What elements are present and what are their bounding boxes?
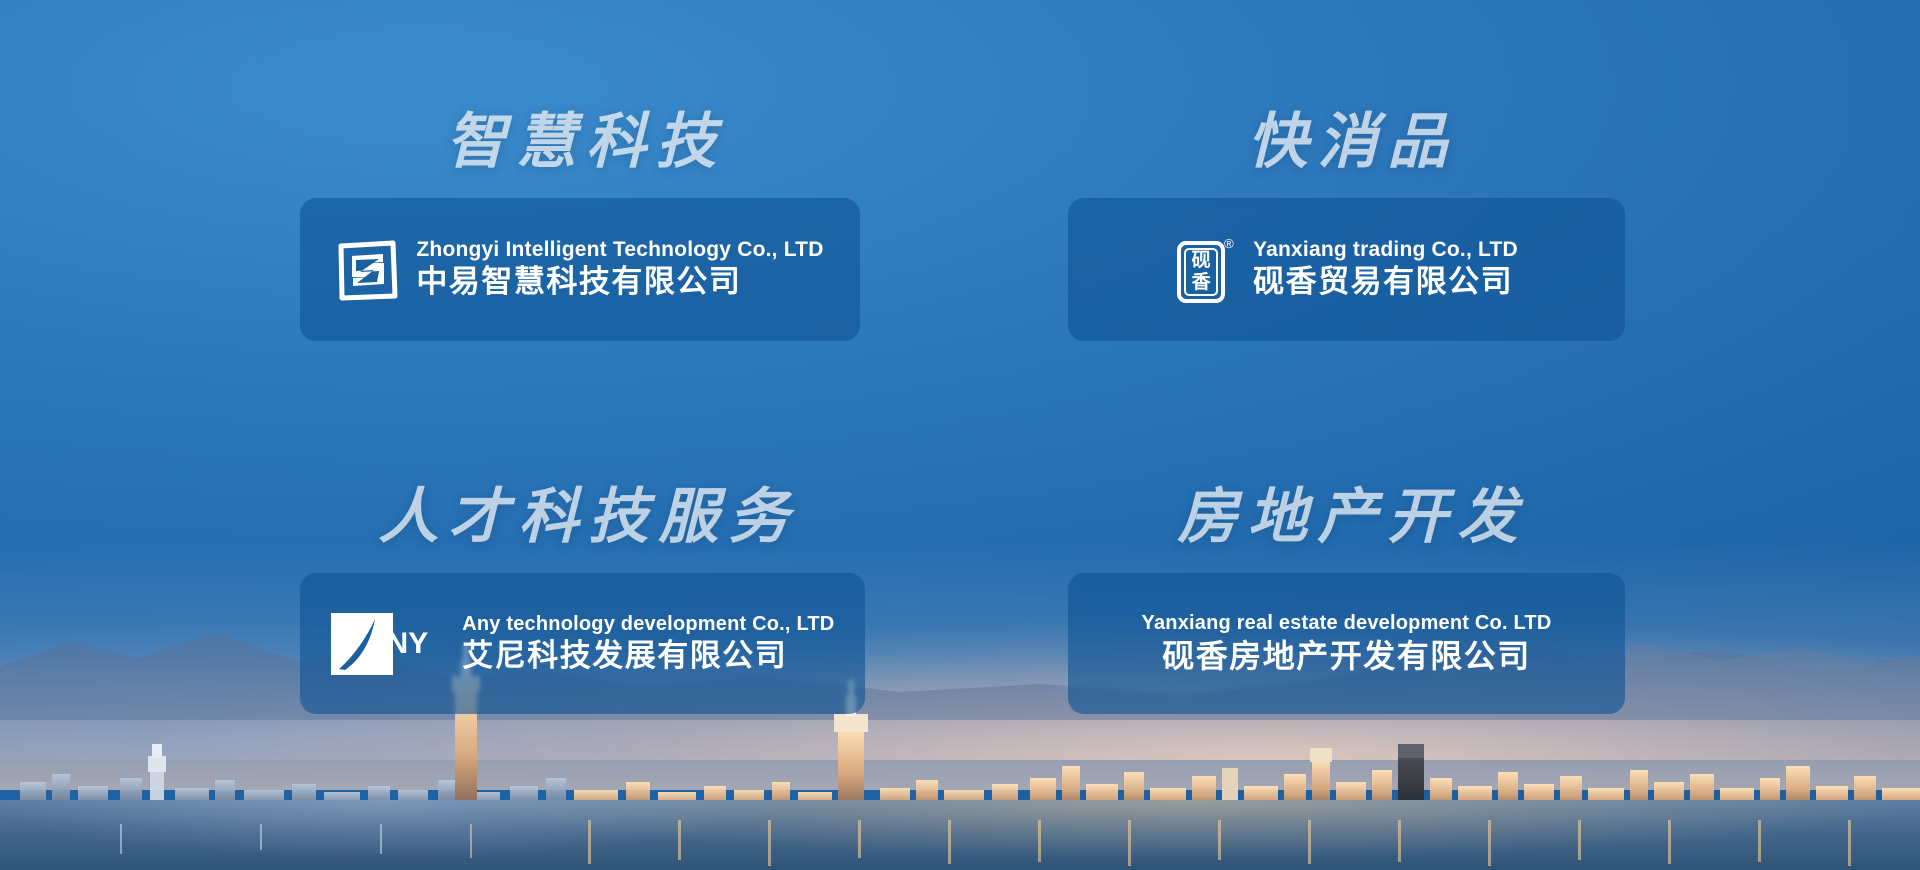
section-title-fmcg: 快消品 [1068,112,1625,172]
section-talent-services: 人才科技服务 NY Any technology development Co.… [300,487,865,714]
company-name-en-yanxiang-trading: Yanxiang trading Co., LTD [1253,237,1518,263]
company-name-block-zhongyi: Zhongyi Intelligent Technology Co., LTD … [416,237,823,302]
section-title-talent-services: 人才科技服务 [300,487,865,547]
any-mountain-logo: NY [331,613,429,675]
any-mountain-mark [331,613,393,675]
company-name-block-yanxiang-trading: Yanxiang trading Co., LTD 砚香贸易有限公司 [1253,237,1518,302]
section-title-smart-technology: 智慧科技 [300,112,860,172]
company-name-en-yanxiang-real-estate: Yanxiang real estate development Co. LTD [1142,611,1552,636]
any-logo-text: NY [387,627,429,661]
company-card-yanxiang-real-estate[interactable]: Yanxiang real estate development Co. LTD… [1068,573,1625,714]
registered-trademark-icon: ® [1224,237,1234,250]
company-name-en-any: Any technology development Co., LTD [462,612,834,637]
company-card-any[interactable]: NY Any technology development Co., LTD 艾… [300,573,865,714]
company-card-yanxiang-trading[interactable]: 砚 香 ® Yanxiang trading Co., LTD 砚香贸易有限公司 [1068,198,1625,341]
section-fmcg: 快消品 砚 香 ® Yanxiang trading Co., LTD 砚香贸易… [1068,112,1625,341]
company-name-block-any: Any technology development Co., LTD 艾尼科技… [462,612,834,676]
zhongyi-z-seal-logo [336,239,398,301]
company-card-zhongyi[interactable]: Zhongyi Intelligent Technology Co., LTD … [300,198,860,341]
company-name-cn-yanxiang-trading: 砚香贸易有限公司 [1253,263,1518,302]
section-smart-technology: 智慧科技 Zhongyi Intelligent Technology Co.,… [300,112,860,341]
company-name-en-zhongyi: Zhongyi Intelligent Technology Co., LTD [416,237,823,263]
company-name-cn-zhongyi: 中易智慧科技有限公司 [416,263,823,302]
company-name-cn-yanxiang-real-estate: 砚香房地产开发有限公司 [1162,636,1531,676]
section-title-real-estate: 房地产开发 [1068,487,1625,547]
company-name-cn-any: 艾尼科技发展有限公司 [462,637,834,676]
yanxiang-seal-logo: 砚 香 ® [1175,235,1235,305]
yanxiang-seal-char-1: 砚 [1188,251,1214,270]
yanxiang-seal-char-2: 香 [1188,273,1214,292]
company-name-block-yanxiang-real-estate: Yanxiang real estate development Co. LTD… [1142,611,1552,676]
section-real-estate: 房地产开发 Yanxiang real estate development C… [1068,487,1625,714]
